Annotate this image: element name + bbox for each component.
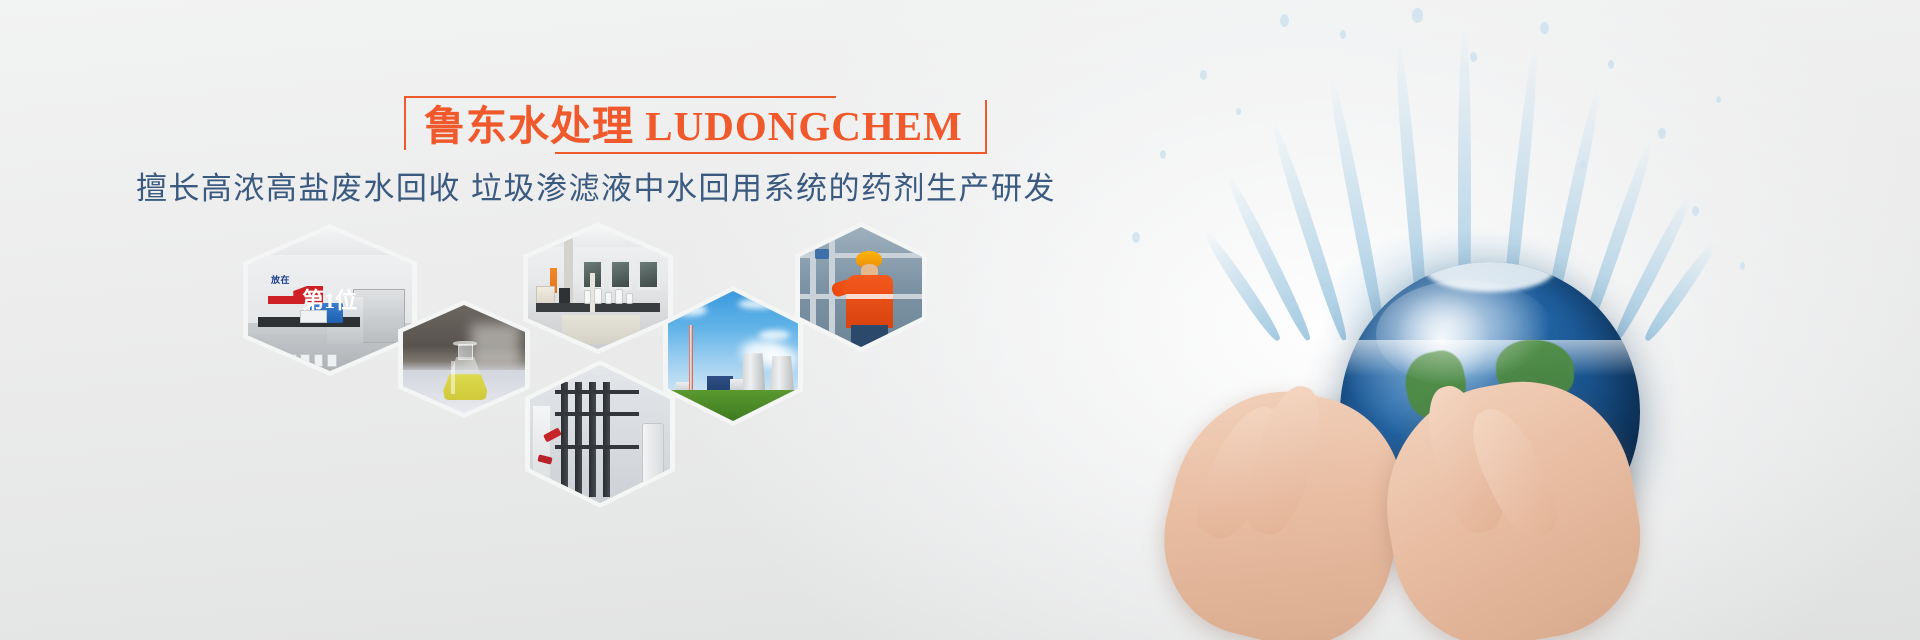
title-bracket-frame: 鲁东水处理 LUDONGCHEM	[404, 96, 987, 154]
hex-alt-text: 实验室内景	[243, 224, 244, 225]
hex-tile-ro-equipment[interactable]: 反渗透膜设备	[525, 360, 675, 508]
page-title: 鲁东水处理 LUDONGCHEM	[424, 102, 963, 150]
globe-alt-text: 双手捧起的地球水球	[1040, 0, 1041, 1]
hex-alt-text: 实验室玻璃仪器	[523, 222, 524, 223]
hex-tile-worker[interactable]: 橙色工装工人	[795, 222, 927, 352]
hex-tile-lab-interior[interactable]: 放在 第1位 实验室内景	[243, 224, 417, 376]
wall-slogan-top: 放在	[271, 273, 290, 286]
wall-slogan-main: 第1位	[302, 283, 357, 315]
hex-tile-lab-glassware[interactable]: 实验室玻璃仪器	[523, 222, 673, 354]
hex-tile-flask[interactable]: 黄色药剂锥形瓶	[398, 300, 530, 418]
hexagon-gallery: 放在 第1位 实验室内景 黄色药剂锥形瓶	[0, 0, 1060, 640]
hex-tile-power-plant[interactable]: 电厂冷却塔	[663, 286, 803, 426]
hex-alt-text: 橙色工装工人	[795, 222, 796, 223]
hero-banner: 鲁东水处理 LUDONGCHEM 擅长高浓高盐废水回收 垃圾渗滤液中水回用系统的…	[0, 0, 1920, 640]
water-splash-globe-visual: 双手捧起的地球水球	[1040, 0, 1920, 640]
